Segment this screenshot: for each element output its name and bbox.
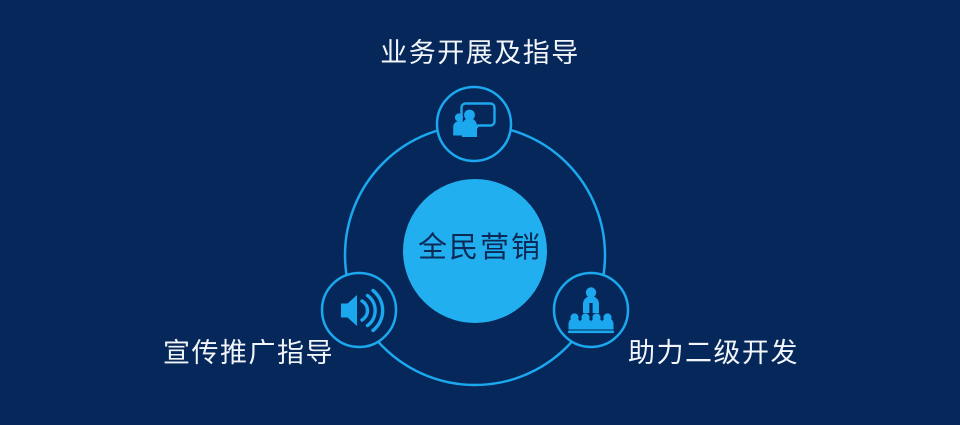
audience-base-line [568, 331, 614, 334]
node-right-label: 助力二级开发 [628, 340, 799, 367]
audience-body-3 [591, 318, 603, 330]
node-top-label: 业务开展及指导 [0, 40, 960, 67]
audience-body-2 [580, 318, 592, 330]
audience-body-1 [569, 318, 581, 330]
audience-body-4 [602, 318, 614, 330]
node-top[interactable] [437, 87, 511, 161]
presenter-tie [589, 303, 592, 313]
node-left-circle[interactable] [322, 273, 396, 347]
person-front-body [462, 118, 477, 137]
person-back-head [455, 113, 463, 121]
infographic-root: 全民营销 业务开展及指导 宣传推广指导 助力二级开发 [0, 0, 960, 425]
node-left-label: 宣传推广指导 [163, 340, 334, 367]
node-left[interactable] [322, 273, 396, 347]
node-right[interactable] [554, 273, 628, 347]
center-hub-label: 全民营销 [410, 234, 550, 263]
